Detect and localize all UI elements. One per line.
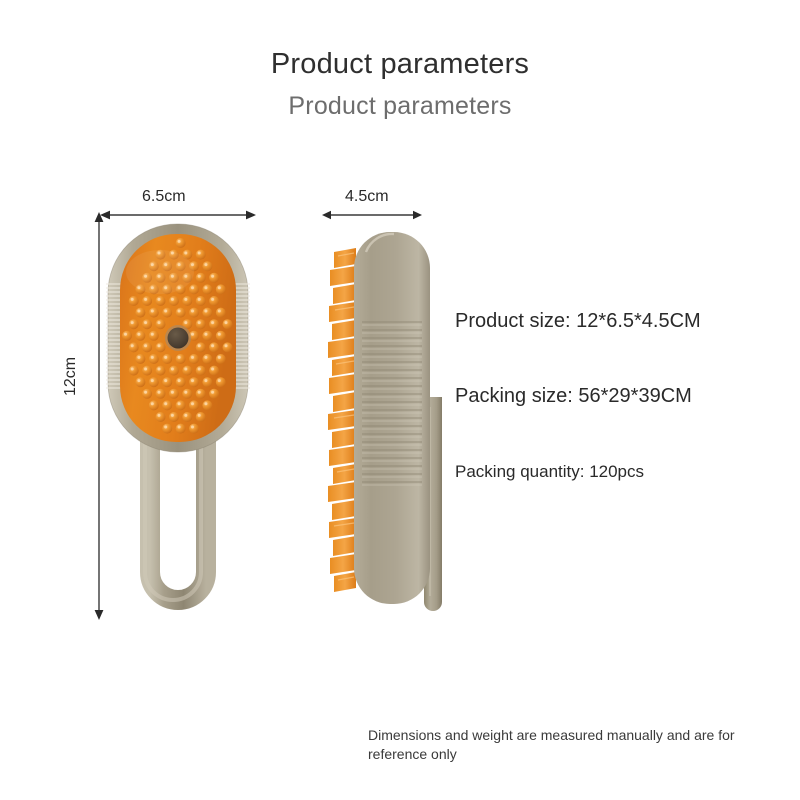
- product-parameters-page: Product parameters Product parameters 6.…: [0, 0, 800, 800]
- page-title: Product parameters: [0, 48, 800, 81]
- brush-front-view-graphic: [98, 212, 258, 622]
- brush-handle-front: [145, 427, 206, 600]
- disclaimer-note: Dimensions and weight are measured manua…: [368, 726, 772, 765]
- brush-front-view: [98, 212, 258, 622]
- brush-bristles: [328, 248, 356, 592]
- dimension-label-height: 12cm: [62, 357, 80, 396]
- dimension-label-width: 6.5cm: [142, 188, 186, 206]
- spec-product-size: Product size: 12*6.5*4.5CM: [455, 310, 701, 333]
- center-hole: [168, 328, 189, 349]
- brush-side-view: [318, 212, 453, 632]
- comb-teeth-left: [106, 284, 122, 388]
- dimension-label-depth: 4.5cm: [345, 188, 389, 206]
- brush-side-view-graphic: [318, 212, 453, 632]
- pad-highlight: [126, 250, 194, 294]
- spec-packing-quantity: Packing quantity: 120pcs: [455, 462, 644, 482]
- comb-teeth-right: [234, 284, 250, 388]
- spec-packing-size: Packing size: 56*29*39CM: [455, 385, 692, 408]
- page-subtitle: Product parameters: [0, 92, 800, 121]
